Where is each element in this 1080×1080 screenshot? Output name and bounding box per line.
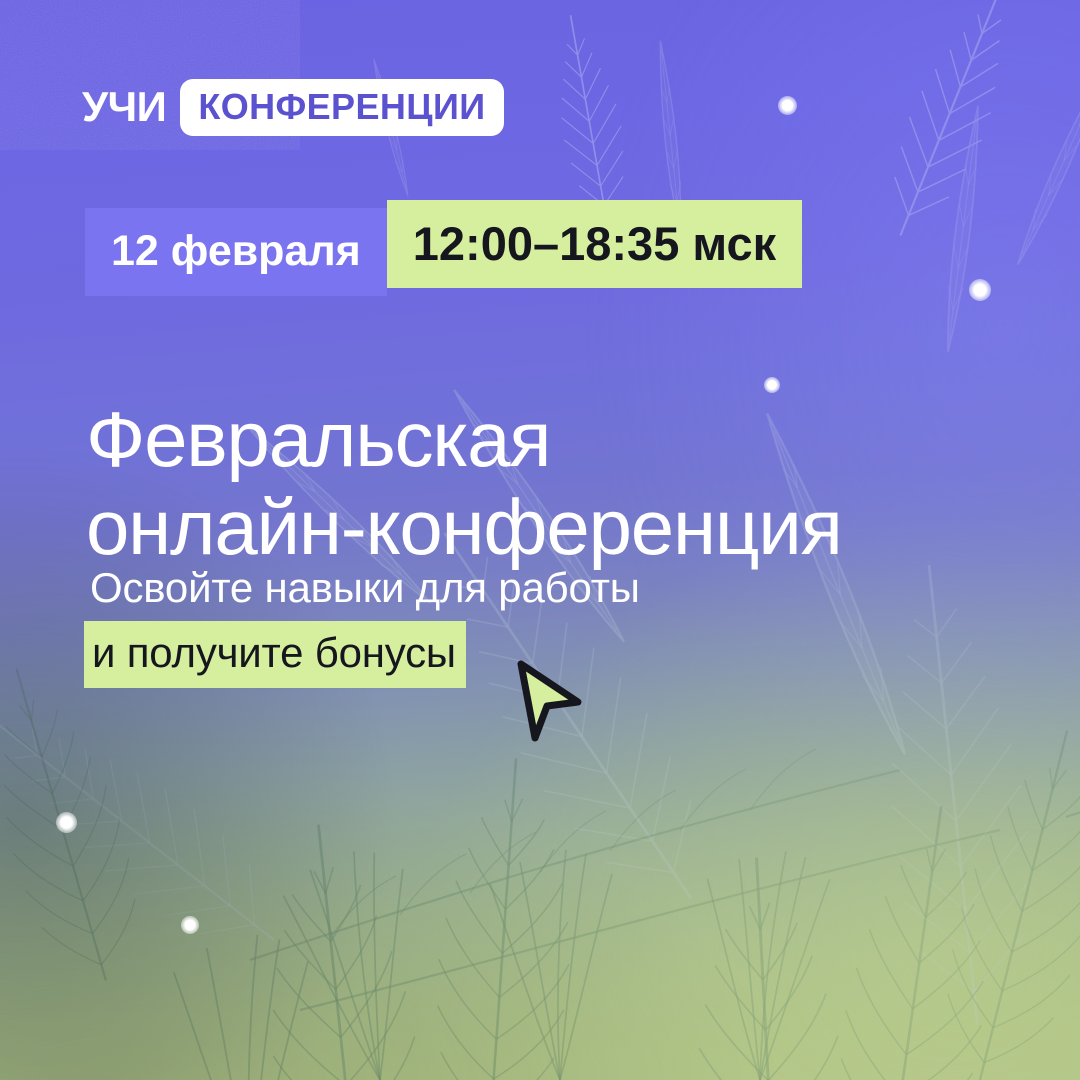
event-time-badge: 12:00–18:35 мск: [387, 200, 802, 288]
brand-wordmark: УЧИ: [82, 86, 166, 128]
headline-line-1: Февральская: [86, 396, 1006, 483]
poster-content: УЧИ КОНФЕРЕНЦИИ 12 февраля 12:00–18:35 м…: [0, 0, 1080, 1080]
subtitle: Освойте навыки для работы и получите бон…: [90, 562, 640, 688]
event-date-badge: 12 февраля: [85, 208, 387, 296]
subtitle-line-1: Освойте навыки для работы: [90, 562, 640, 615]
brand-pill-label: КОНФЕРЕНЦИИ: [180, 79, 503, 136]
promo-poster: УЧИ КОНФЕРЕНЦИИ 12 февраля 12:00–18:35 м…: [0, 0, 1080, 1080]
event-badges: 12 февраля 12:00–18:35 мск: [85, 208, 802, 296]
page-title: Февральская онлайн-конференция: [86, 396, 1006, 571]
headline-line-2: онлайн-конференция: [86, 484, 1006, 571]
subtitle-line-2-highlight: и получите бонусы: [84, 621, 466, 688]
brand-logo[interactable]: УЧИ КОНФЕРЕНЦИИ: [82, 82, 504, 132]
